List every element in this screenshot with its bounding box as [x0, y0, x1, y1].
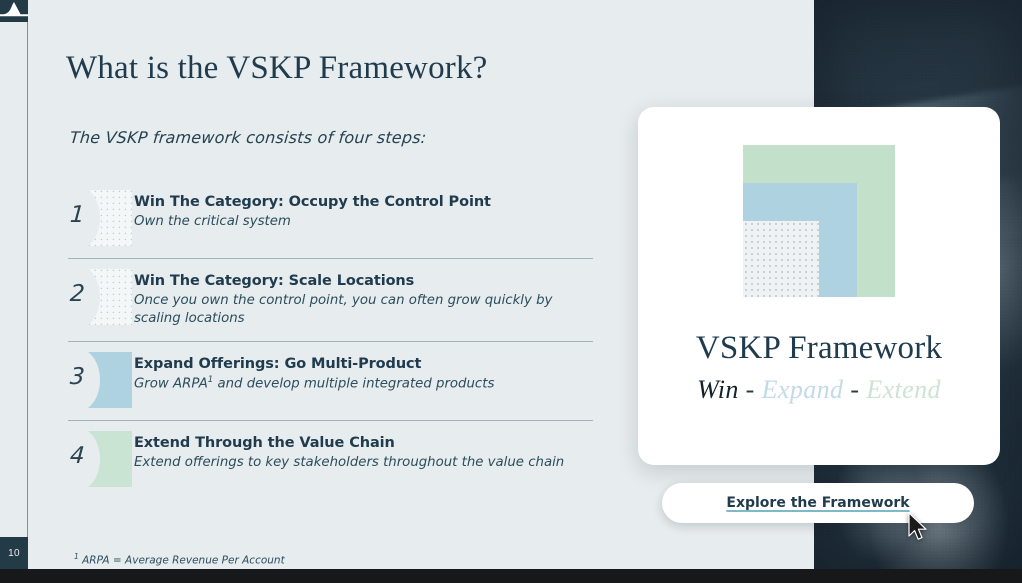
tagline-extend: Extend	[866, 375, 941, 404]
step-body: Win The Category: Scale Locations Once y…	[134, 269, 593, 329]
tagline-dash-2: -	[850, 375, 859, 404]
step-heading: Win The Category: Occupy the Control Poi…	[134, 193, 593, 211]
step-marker: 4	[68, 431, 134, 487]
letterbox-bar	[0, 569, 1022, 583]
list-item: 1 Win The Category: Occupy the Control P…	[68, 180, 593, 258]
explore-framework-button[interactable]: Explore the Framework	[662, 483, 974, 523]
step-marker: 3	[68, 352, 134, 408]
step-description-after: and develop multiple integrated products	[213, 376, 494, 391]
tagline-dash-1: -	[746, 375, 755, 404]
page-number: 10	[0, 537, 28, 569]
tagline-expand: Expand	[762, 375, 844, 404]
step-shape-icon	[88, 431, 132, 487]
page-subtitle: The VSKP framework consists of four step…	[69, 128, 427, 147]
step-body: Expand Offerings: Go Multi-Product Grow …	[134, 352, 593, 394]
list-item: 2 Win The Category: Scale Locations Once…	[68, 258, 593, 341]
footnote-text: ARPA = Average Revenue Per Account	[79, 555, 285, 567]
tagline-win: Win	[697, 375, 739, 404]
list-item: 3 Expand Offerings: Go Multi-Product Gro…	[68, 341, 593, 420]
step-shape-icon	[88, 269, 132, 325]
step-description: Own the critical system	[134, 213, 593, 231]
step-body: Extend Through the Value Chain Extend of…	[134, 431, 593, 472]
step-number: 1	[69, 202, 85, 228]
step-description-before: Grow ARPA	[134, 376, 208, 391]
mountain-peak-icon	[0, 0, 28, 22]
step-body: Win The Category: Occupy the Control Poi…	[134, 190, 593, 231]
step-marker: 2	[68, 269, 134, 325]
step-heading: Expand Offerings: Go Multi-Product	[134, 355, 593, 373]
step-heading: Extend Through the Value Chain	[134, 434, 593, 452]
step-number: 3	[69, 364, 85, 390]
logo-inner-square	[743, 221, 819, 297]
nested-squares-logo-icon	[743, 145, 895, 297]
step-heading: Win The Category: Scale Locations	[134, 272, 593, 290]
step-shape-icon	[88, 352, 132, 408]
brand-logo[interactable]	[0, 0, 28, 22]
page-title: What is the VSKP Framework?	[66, 50, 488, 87]
slide-root: 10 What is the VSKP Framework? The VSKP …	[0, 0, 1022, 583]
framework-card: VSKP Framework Win - Expand - Extend	[638, 107, 1000, 465]
explore-framework-label: Explore the Framework	[726, 495, 909, 511]
step-shape-icon	[88, 190, 132, 246]
list-item: 4 Extend Through the Value Chain Extend …	[68, 420, 593, 499]
slide-canvas: 10 What is the VSKP Framework? The VSKP …	[0, 0, 1022, 569]
footnote: 1 ARPA = Average Revenue Per Account	[74, 552, 285, 567]
framework-name: VSKP Framework	[638, 330, 1000, 367]
step-description: Once you own the control point, you can …	[134, 292, 593, 329]
step-number: 4	[69, 443, 85, 469]
step-description: Extend offerings to key stakeholders thr…	[134, 454, 593, 472]
step-number: 2	[69, 281, 85, 307]
left-rail: 10	[0, 0, 28, 569]
step-description: Grow ARPA1 and develop multiple integrat…	[134, 375, 593, 394]
step-marker: 1	[68, 190, 134, 246]
steps-list: 1 Win The Category: Occupy the Control P…	[68, 180, 593, 499]
framework-tagline: Win - Expand - Extend	[638, 375, 1000, 405]
